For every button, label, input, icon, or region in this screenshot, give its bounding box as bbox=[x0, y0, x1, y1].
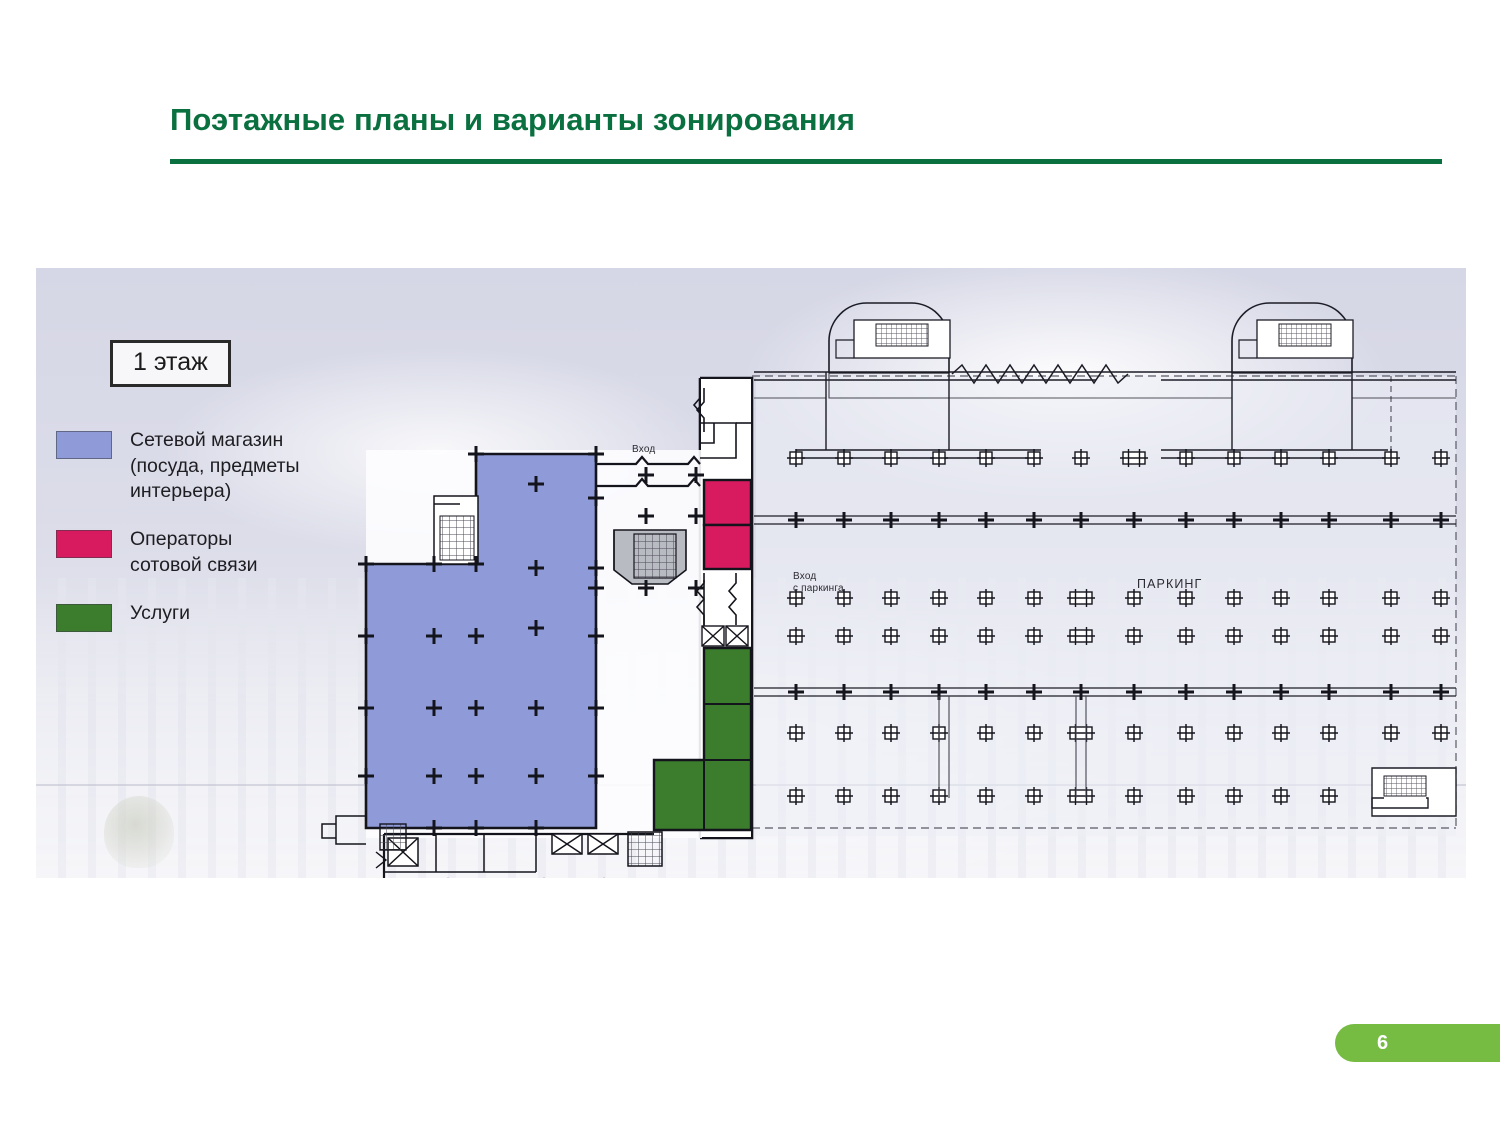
slide: Поэтажные планы и варианты зонирования bbox=[0, 0, 1500, 1125]
page-number: 6 bbox=[1377, 1032, 1388, 1055]
label-entrance-parking-line1: Вход bbox=[793, 571, 816, 582]
legend-line-1: Операторы bbox=[130, 527, 258, 553]
parking-ramp-right bbox=[1232, 303, 1353, 373]
legend-line-3: интерьера) bbox=[130, 479, 300, 505]
legend: Сетевой магазин (посуда, предметы интерь… bbox=[56, 428, 356, 654]
legend-swatch-network-store bbox=[56, 431, 112, 459]
stair-notch-blue bbox=[434, 496, 478, 564]
page-number-badge: 6 bbox=[1335, 1024, 1500, 1062]
page-title: Поэтажные планы и варианты зонирования bbox=[170, 103, 1442, 137]
legend-label-network-store: Сетевой магазин (посуда, предметы интерь… bbox=[130, 428, 300, 505]
floor-plan-image: Вход Вход с паркинга ПАРКИНГ 1 этаж Сете… bbox=[36, 268, 1466, 878]
legend-line-1: Сетевой магазин bbox=[130, 428, 300, 454]
legend-item-services: Услуги bbox=[56, 601, 356, 632]
title-block: Поэтажные планы и варианты зонирования bbox=[170, 103, 1442, 137]
legend-item-cell-operators: Операторы сотовой связи bbox=[56, 527, 356, 578]
legend-swatch-services bbox=[56, 604, 112, 632]
legend-label-services: Услуги bbox=[130, 601, 190, 627]
label-entrance-parking-line2: с паркинга bbox=[793, 583, 844, 594]
legend-line-1: Услуги bbox=[130, 601, 190, 627]
zone-cell-operators bbox=[704, 480, 751, 569]
legend-line-2: (посуда, предметы bbox=[130, 454, 300, 480]
legend-label-cell-operators: Операторы сотовой связи bbox=[130, 527, 258, 578]
title-underline bbox=[170, 159, 1442, 164]
legend-item-network-store: Сетевой магазин (посуда, предметы интерь… bbox=[56, 428, 356, 505]
escalator-block bbox=[614, 530, 686, 584]
parking-slab bbox=[756, 376, 1456, 836]
label-parking: ПАРКИНГ bbox=[1137, 577, 1202, 591]
label-entrance: Вход bbox=[632, 444, 655, 455]
left-annex bbox=[322, 816, 366, 844]
parking-ramp-bottom-right bbox=[1372, 768, 1456, 816]
legend-swatch-cell-operators bbox=[56, 530, 112, 558]
floor-label-box: 1 этаж bbox=[110, 340, 231, 387]
legend-line-2: сотовой связи bbox=[130, 553, 258, 579]
